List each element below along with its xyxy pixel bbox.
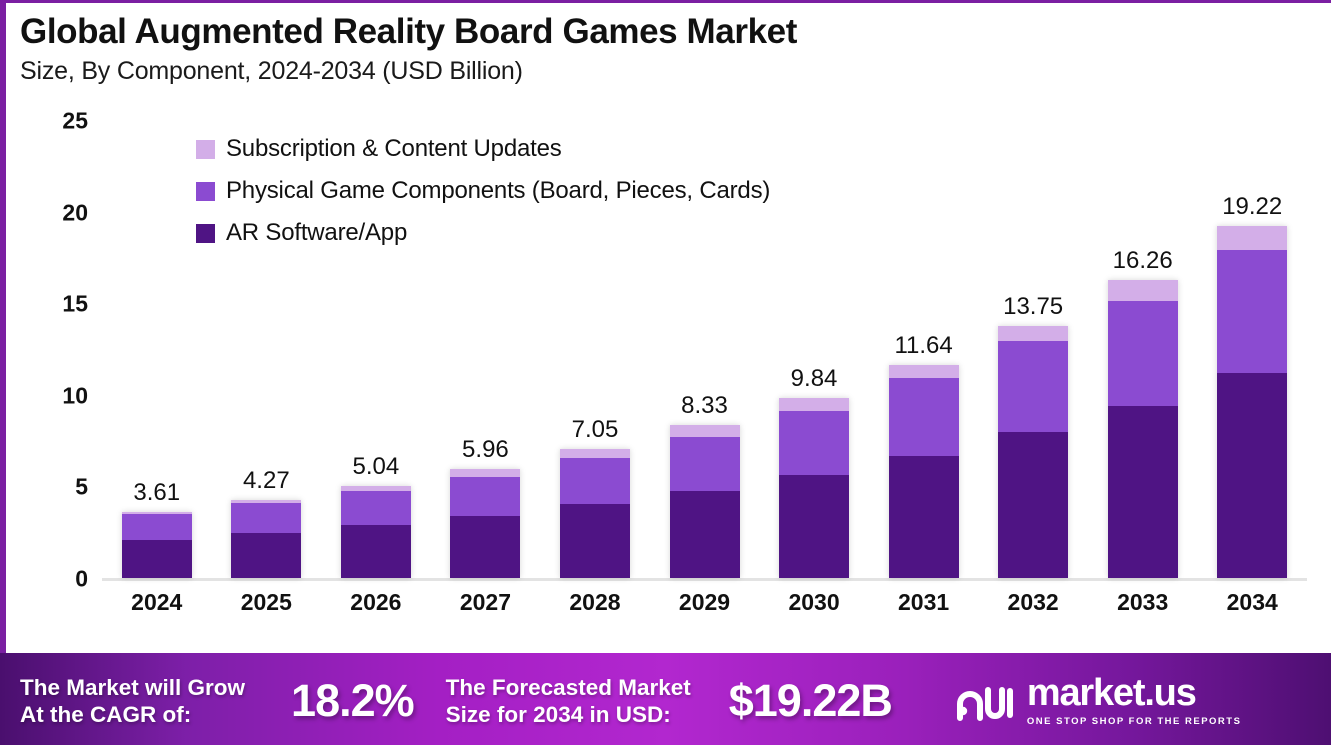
- bar-value-label-2030: 9.84: [791, 365, 838, 393]
- footer-forecast-label: The Forecasted Market Size for 2034 in U…: [446, 674, 691, 728]
- bar-value-label-2029: 8.33: [681, 392, 728, 420]
- bar-segment: [998, 432, 1068, 578]
- bar-value-label-2024: 3.61: [133, 479, 180, 507]
- bar-segment: [889, 456, 959, 578]
- bar-segment: [450, 469, 520, 477]
- footer-cagr-value: 18.2%: [291, 675, 414, 727]
- page-subtitle: Size, By Component, 2024-2034 (USD Billi…: [20, 57, 797, 86]
- cagr-value: 18.2%: [291, 675, 414, 727]
- x-axis-label-2024: 2024: [131, 589, 182, 616]
- bar-value-label-2032: 13.75: [1003, 293, 1063, 321]
- forecast-label-line2: Size for 2034 in USD:: [446, 701, 691, 728]
- brand-logo-text: market.us ONE STOP SHOP FOR THE REPORTS: [1027, 674, 1242, 727]
- x-axis-label-2028: 2028: [569, 589, 620, 616]
- y-axis-tick-10: 10: [62, 382, 88, 409]
- x-axis-label-2030: 2030: [788, 589, 839, 616]
- bar-segment: [889, 378, 959, 456]
- x-axis-label-2029: 2029: [679, 589, 730, 616]
- bar-segment: [998, 326, 1068, 341]
- bar-segment: [450, 516, 520, 578]
- x-axis-label-2032: 2032: [1008, 589, 1059, 616]
- bar-segment: [1108, 301, 1178, 406]
- y-axis-tick-25: 25: [62, 108, 88, 135]
- y-axis-tick-0: 0: [75, 566, 88, 593]
- footer-forecast-value: $19.22B: [729, 675, 892, 727]
- page-title: Global Augmented Reality Board Games Mar…: [20, 13, 797, 52]
- bar-column-2031[interactable]: [889, 365, 959, 578]
- bar-segment: [341, 525, 411, 578]
- forecast-label-line1: The Forecasted Market: [446, 674, 691, 701]
- bar-value-label-2028: 7.05: [572, 416, 619, 444]
- bar-value-label-2026: 5.04: [353, 453, 400, 481]
- chart-page: Global Augmented Reality Board Games Mar…: [0, 0, 1331, 745]
- bar-segment: [1108, 280, 1178, 301]
- bar-column-2025[interactable]: [231, 500, 301, 578]
- bar-segment: [450, 477, 520, 516]
- x-axis-label-2033: 2033: [1117, 589, 1168, 616]
- x-axis-label-2031: 2031: [898, 589, 949, 616]
- bar-column-2033[interactable]: [1108, 280, 1178, 578]
- x-axis-label-2025: 2025: [241, 589, 292, 616]
- bar-value-label-2025: 4.27: [243, 467, 290, 495]
- bar-segment: [1217, 373, 1287, 578]
- bar-column-2034[interactable]: [1217, 226, 1287, 578]
- logo-name: market.us: [1027, 674, 1242, 712]
- bar-series-container: 3.614.275.045.967.058.339.8411.6413.7516…: [102, 121, 1307, 581]
- chart-header: Global Augmented Reality Board Games Mar…: [20, 13, 797, 86]
- bar-segment: [889, 365, 959, 379]
- bar-segment: [779, 411, 849, 475]
- bar-segment: [779, 398, 849, 411]
- footer-bar: The Market will Grow At the CAGR of: 18.…: [0, 653, 1331, 745]
- bar-segment: [1108, 406, 1178, 578]
- market-us-logo-icon: [954, 678, 1016, 724]
- bar-segment: [560, 449, 630, 458]
- footer-cagr-label: The Market will Grow At the CAGR of:: [20, 674, 245, 728]
- y-axis-tick-15: 15: [62, 291, 88, 318]
- cagr-label-line1: The Market will Grow: [20, 674, 245, 701]
- bar-column-2027[interactable]: [450, 469, 520, 578]
- x-axis-label-2026: 2026: [350, 589, 401, 616]
- bar-segment: [231, 533, 301, 578]
- bar-segment: [670, 425, 740, 436]
- bar-column-2029[interactable]: [670, 425, 740, 578]
- bar-segment: [560, 458, 630, 504]
- cagr-label-line2: At the CAGR of:: [20, 701, 245, 728]
- bar-column-2028[interactable]: [560, 449, 630, 578]
- bar-segment: [122, 540, 192, 578]
- bar-column-2026[interactable]: [341, 486, 411, 578]
- forecast-value: $19.22B: [729, 675, 892, 727]
- x-axis: 2024202520262027202820292030203120322033…: [102, 589, 1307, 629]
- bar-column-2024[interactable]: [122, 512, 192, 578]
- bar-segment: [122, 514, 192, 540]
- bar-segment: [779, 475, 849, 578]
- bar-segment: [1217, 250, 1287, 373]
- bar-value-label-2031: 11.64: [894, 332, 952, 360]
- bar-column-2030[interactable]: [779, 398, 849, 578]
- logo-tagline: ONE STOP SHOP FOR THE REPORTS: [1027, 716, 1242, 727]
- y-axis-tick-5: 5: [75, 474, 88, 501]
- x-axis-label-2034: 2034: [1227, 589, 1278, 616]
- bar-value-label-2034: 19.22: [1222, 193, 1282, 221]
- bar-value-label-2027: 5.96: [462, 436, 509, 464]
- y-axis-tick-20: 20: [62, 199, 88, 226]
- bar-segment: [670, 491, 740, 578]
- x-axis-label-2027: 2027: [460, 589, 511, 616]
- bar-segment: [1217, 226, 1287, 250]
- bar-column-2032[interactable]: [998, 326, 1068, 578]
- brand-logo: market.us ONE STOP SHOP FOR THE REPORTS: [954, 674, 1242, 727]
- bar-value-label-2033: 16.26: [1113, 247, 1173, 275]
- y-axis: 0510152025: [6, 121, 98, 579]
- bar-segment: [998, 341, 1068, 432]
- bar-segment: [670, 437, 740, 491]
- bar-segment: [341, 491, 411, 525]
- bar-segment: [560, 504, 630, 578]
- bar-segment: [231, 503, 301, 533]
